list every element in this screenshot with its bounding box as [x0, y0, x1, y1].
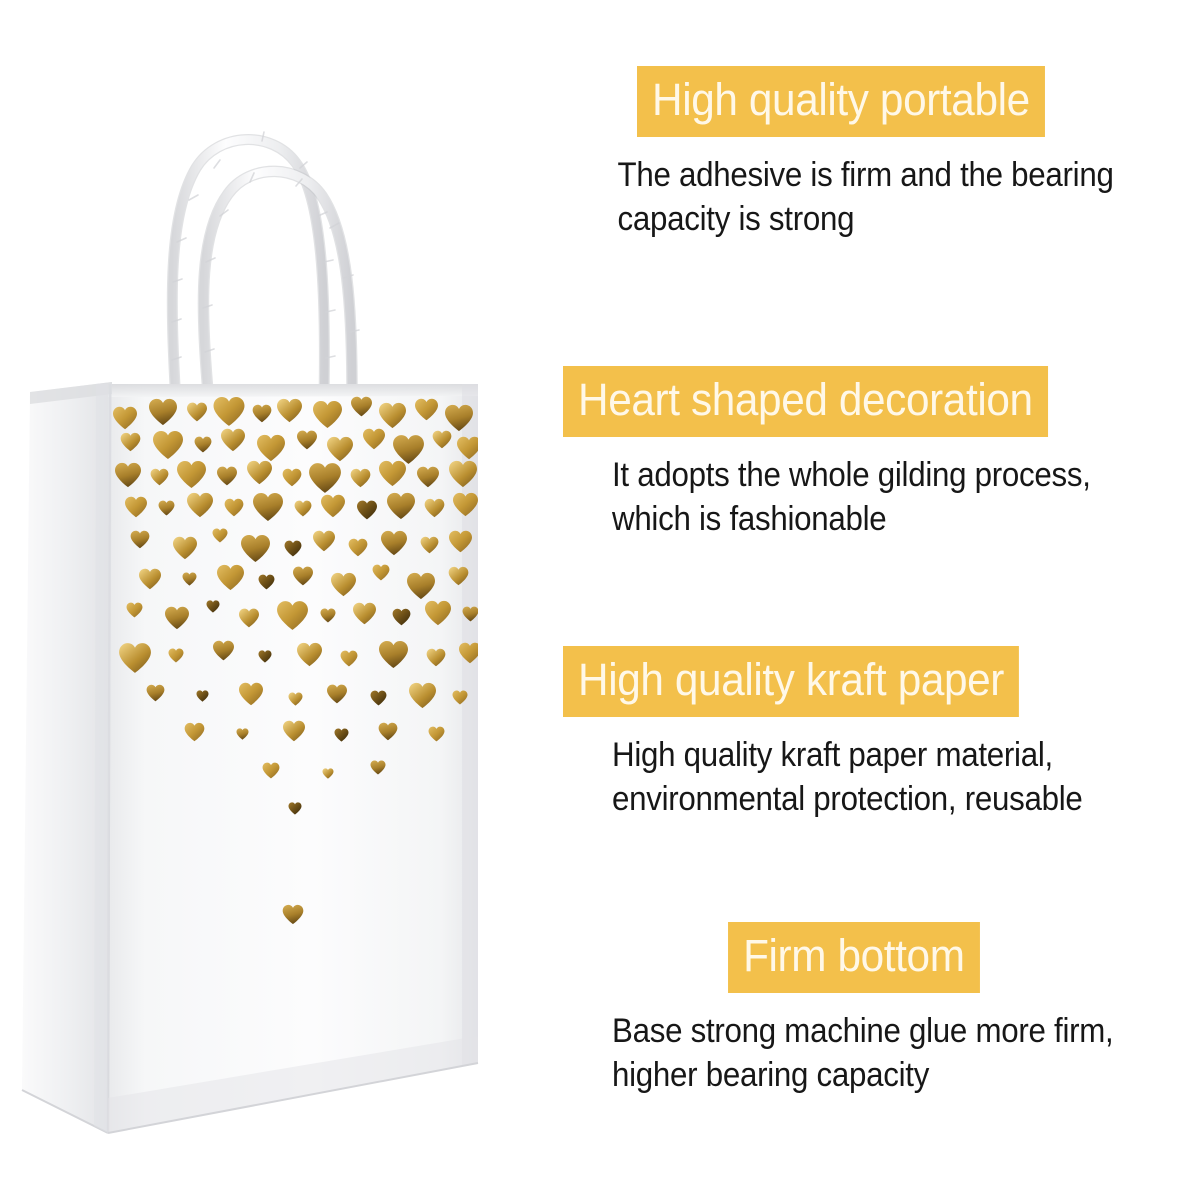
- feature-block-high-quality-portable: High quality portable The adhesive is fi…: [520, 66, 1200, 241]
- paper-gift-bag-icon: [0, 0, 520, 1200]
- feature-description: High quality kraft paper material, envir…: [520, 733, 1146, 821]
- feature-description: It adopts the whole gilding process, whi…: [520, 453, 1146, 541]
- feature-title-banner: Heart shaped decoration: [563, 366, 1048, 437]
- feature-description-line: capacity is strong: [618, 197, 1146, 241]
- feature-description-line: which is fashionable: [612, 497, 1146, 541]
- bag-handles: [172, 132, 359, 404]
- feature-block-firm-bottom: Firm bottom Base strong machine glue mor…: [520, 922, 1200, 1097]
- feature-title-banner: High quality kraft paper: [563, 646, 1019, 717]
- feature-block-heart-shaped-decoration: Heart shaped decoration It adopts the wh…: [520, 366, 1200, 541]
- feature-description-line: It adopts the whole gilding process,: [612, 453, 1146, 497]
- product-infographic: High quality portable The adhesive is fi…: [0, 0, 1200, 1200]
- feature-block-high-quality-kraft-paper: High quality kraft paper High quality kr…: [520, 646, 1200, 821]
- feature-title-banner: High quality portable: [637, 66, 1045, 137]
- banner-wrap: High quality portable: [520, 66, 1200, 137]
- feature-title-banner: Firm bottom: [728, 922, 980, 993]
- banner-wrap: Firm bottom: [520, 922, 1200, 993]
- feature-description-line: High quality kraft paper material,: [612, 733, 1146, 777]
- product-image: [0, 0, 520, 1200]
- feature-description: Base strong machine glue more firm, high…: [520, 1009, 1146, 1097]
- feature-description-line: environmental protection, reusable: [612, 777, 1146, 821]
- feature-description-line: Base strong machine glue more firm,: [612, 1009, 1146, 1053]
- feature-description-line: The adhesive is firm and the bearing: [618, 153, 1146, 197]
- feature-description-line: higher bearing capacity: [612, 1053, 1146, 1097]
- feature-list: High quality portable The adhesive is fi…: [520, 0, 1200, 1200]
- feature-description: The adhesive is firm and the bearing cap…: [520, 153, 1146, 241]
- banner-wrap: High quality kraft paper: [520, 646, 1200, 717]
- banner-wrap: Heart shaped decoration: [520, 366, 1200, 437]
